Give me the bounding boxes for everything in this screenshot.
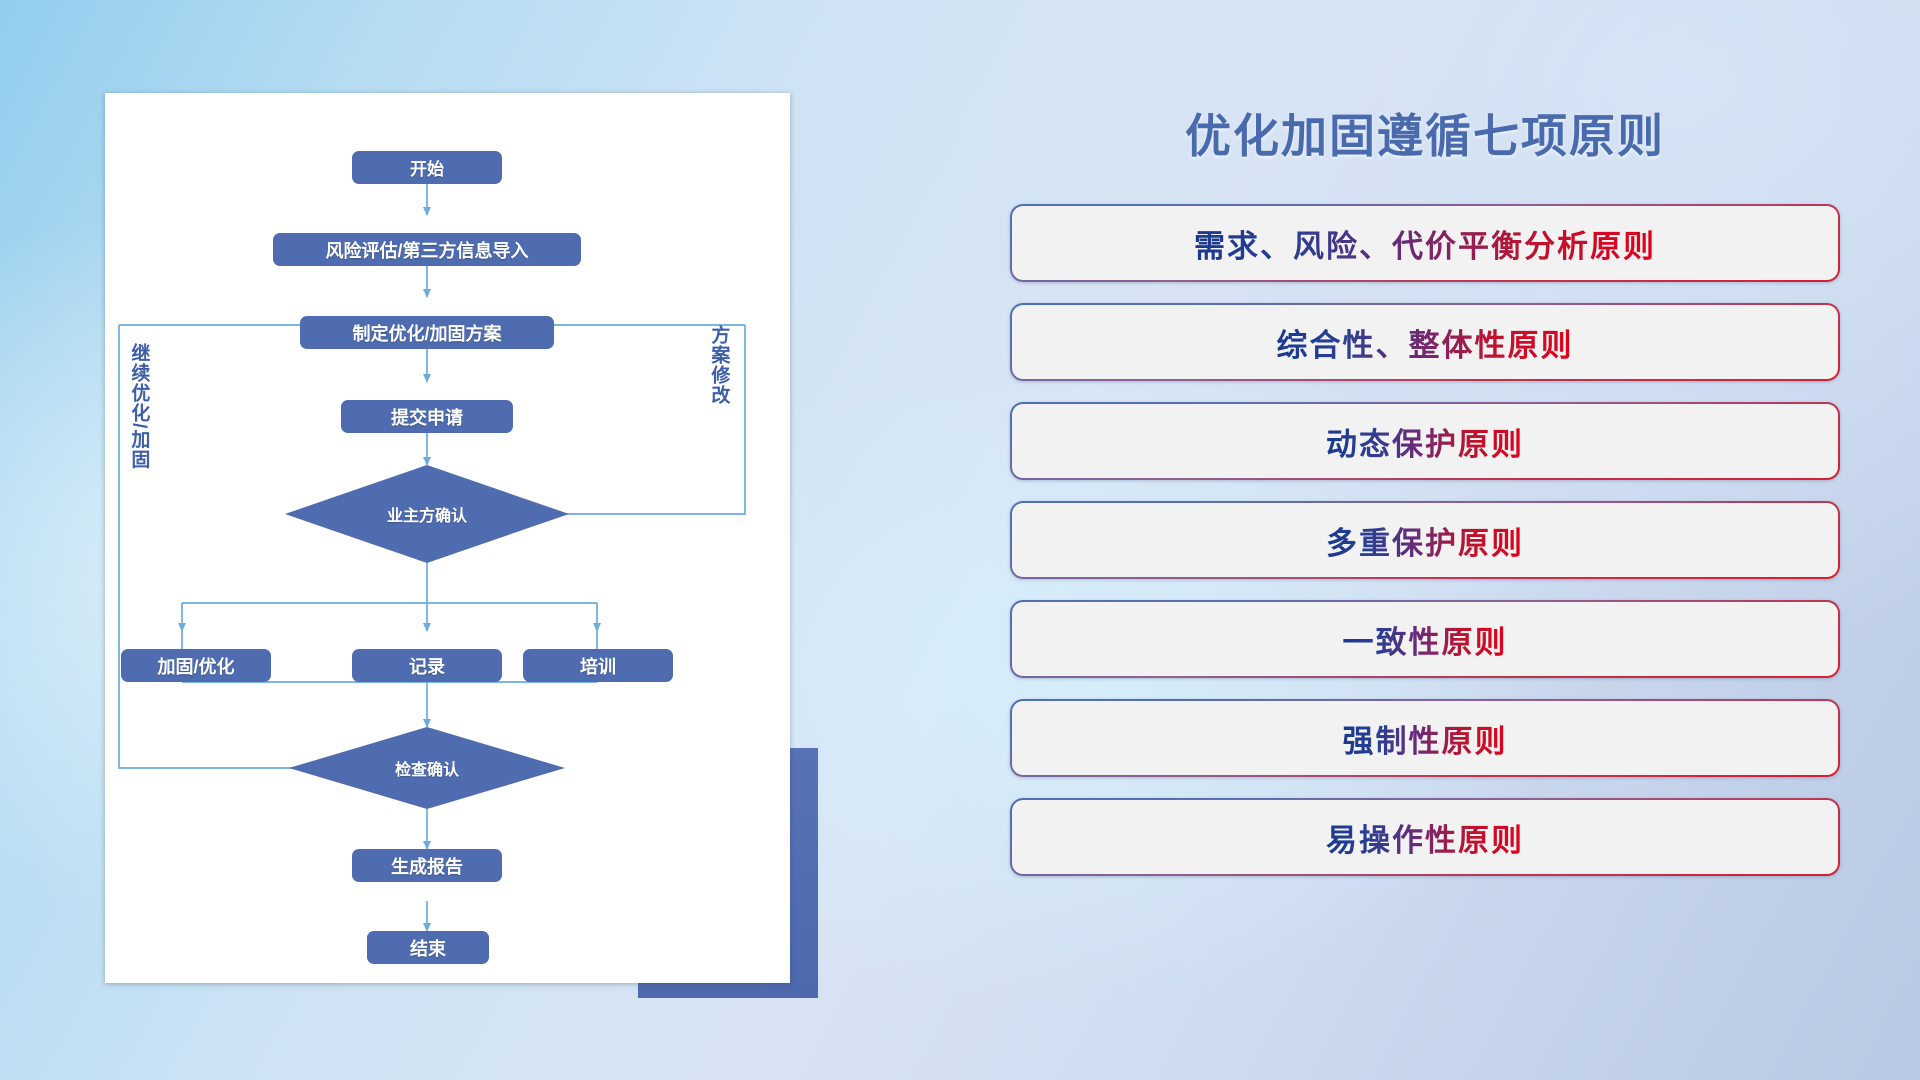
node-plan bbox=[300, 316, 554, 349]
principle-item-1-label: 需求、风险、代价平衡分析原则 bbox=[1194, 221, 1656, 266]
principle-item-4-inner: 多重保护原则 bbox=[1012, 503, 1838, 577]
principle-item-2-label: 综合性、整体性原则 bbox=[1277, 320, 1574, 365]
node-reinforce bbox=[121, 649, 271, 682]
principle-item-3-label: 动态保护原则 bbox=[1326, 419, 1524, 464]
principle-item-6[interactable]: 强制性原则 bbox=[1010, 699, 1840, 777]
principle-item-3[interactable]: 动态保护原则 bbox=[1010, 402, 1840, 480]
principle-item-4-label: 多重保护原则 bbox=[1326, 518, 1524, 563]
principle-item-2-inner: 综合性、整体性原则 bbox=[1012, 305, 1838, 379]
principle-item-6-label: 强制性原则 bbox=[1343, 716, 1508, 761]
principle-item-7[interactable]: 易操作性原则 bbox=[1010, 798, 1840, 876]
slide-canvas: 开始 风险评估/第三方信息导入 制定优化/加固方案 提交申请 业主方确认 加固/… bbox=[0, 0, 1920, 1080]
edge-label-continue-optimize: 继续优化/加固 bbox=[129, 343, 148, 493]
flowchart-diagram bbox=[105, 93, 790, 983]
principles-panel: 优化加固遵循七项原则 需求、风险、代价平衡分析原则 综合性、整体性原则 动态保护… bbox=[1010, 100, 1840, 1010]
principle-item-5[interactable]: 一致性原则 bbox=[1010, 600, 1840, 678]
flowchart-card: 开始 风险评估/第三方信息导入 制定优化/加固方案 提交申请 业主方确认 加固/… bbox=[105, 93, 790, 983]
node-start bbox=[352, 151, 502, 184]
node-owner-decision bbox=[285, 465, 569, 563]
principle-item-7-inner: 易操作性原则 bbox=[1012, 800, 1838, 874]
node-risk bbox=[273, 233, 581, 266]
node-train bbox=[523, 649, 673, 682]
node-submit bbox=[341, 400, 513, 433]
principle-item-1-inner: 需求、风险、代价平衡分析原则 bbox=[1012, 206, 1838, 280]
principle-item-2[interactable]: 综合性、整体性原则 bbox=[1010, 303, 1840, 381]
node-report bbox=[352, 849, 502, 882]
node-end bbox=[367, 931, 489, 964]
principle-item-5-inner: 一致性原则 bbox=[1012, 602, 1838, 676]
principle-item-1[interactable]: 需求、风险、代价平衡分析原则 bbox=[1010, 204, 1840, 282]
principle-item-7-label: 易操作性原则 bbox=[1326, 815, 1524, 860]
principle-item-4[interactable]: 多重保护原则 bbox=[1010, 501, 1840, 579]
principles-title: 优化加固遵循七项原则 bbox=[1010, 100, 1840, 166]
principles-list: 需求、风险、代价平衡分析原则 综合性、整体性原则 动态保护原则 多重保护原则 bbox=[1010, 204, 1840, 876]
node-record bbox=[352, 649, 502, 682]
node-check-decision bbox=[289, 727, 565, 809]
principle-item-3-inner: 动态保护原则 bbox=[1012, 404, 1838, 478]
flowchart-nodes bbox=[121, 151, 673, 964]
principle-item-5-label: 一致性原则 bbox=[1343, 617, 1508, 662]
principle-item-6-inner: 强制性原则 bbox=[1012, 701, 1838, 775]
edge-label-plan-revision: 方案修改 bbox=[709, 325, 728, 445]
